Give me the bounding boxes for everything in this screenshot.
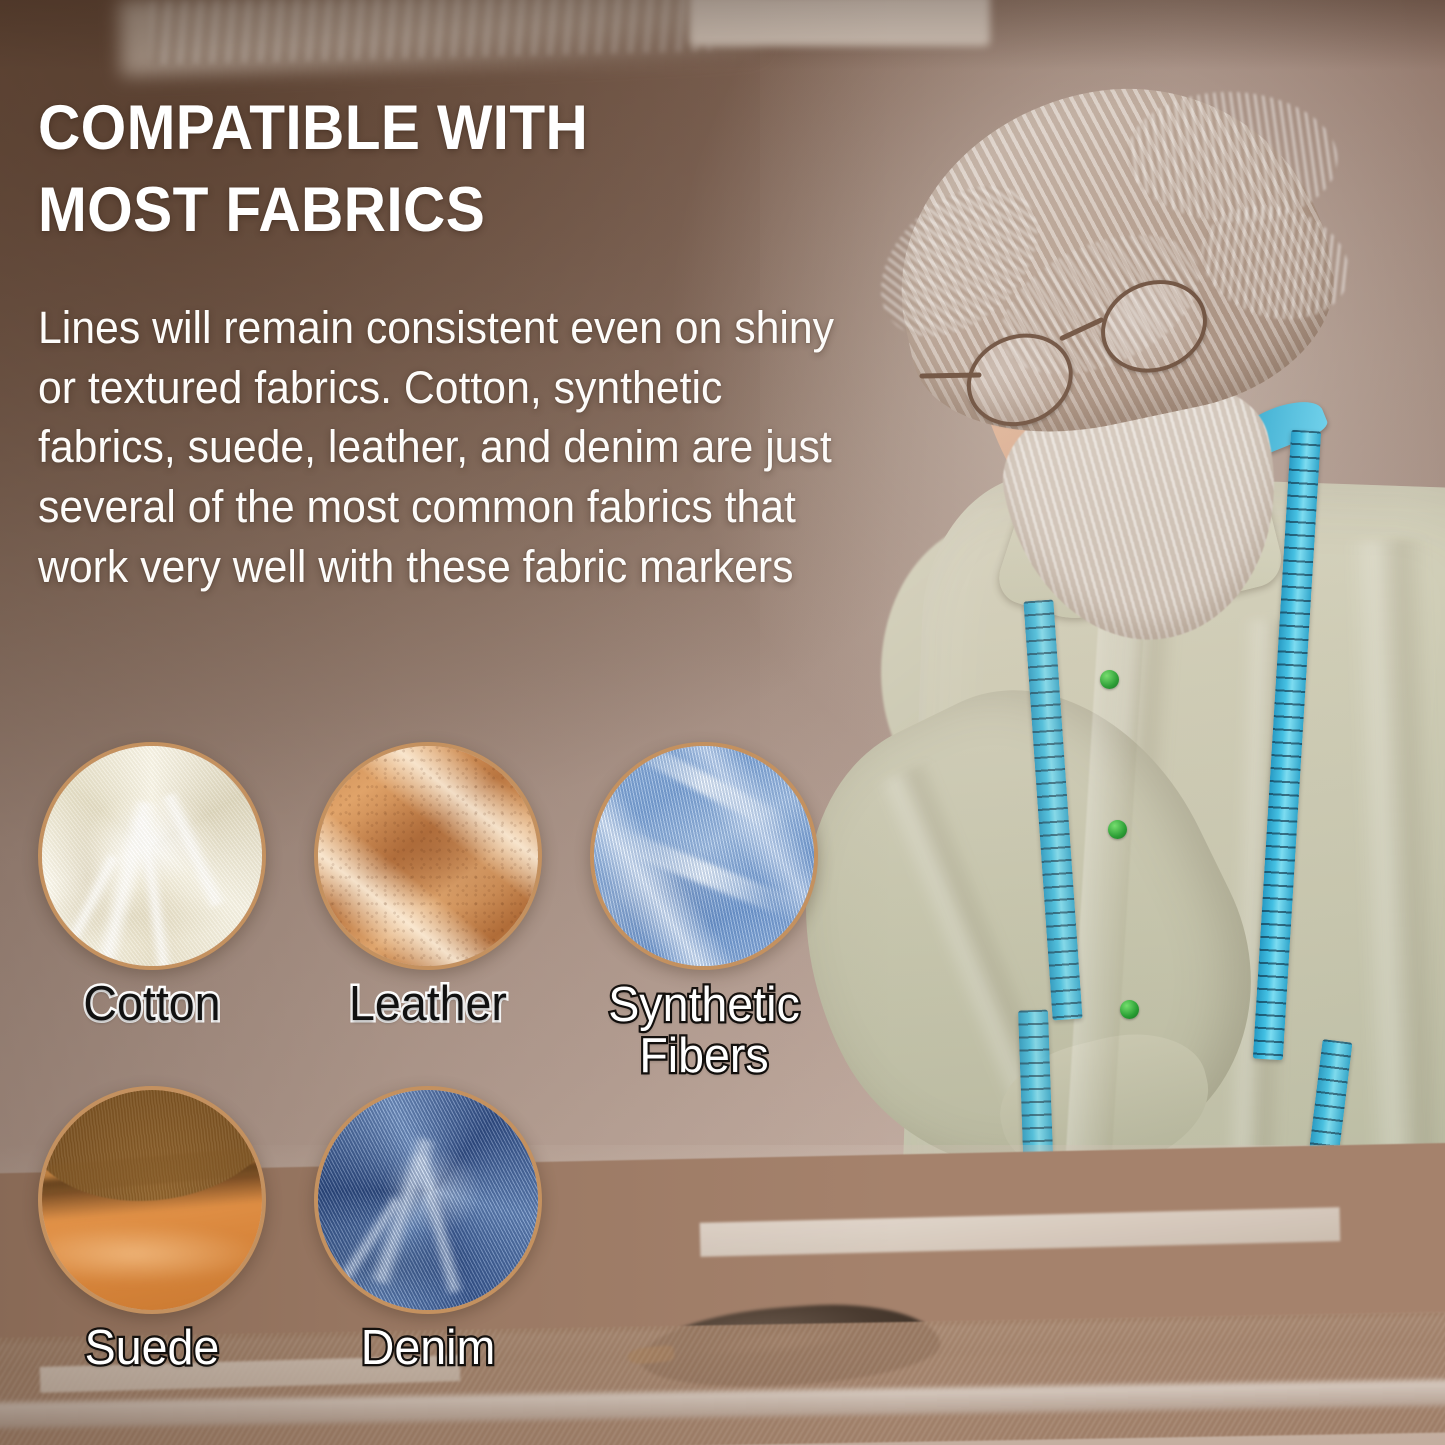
fabric-fold [92, 799, 158, 970]
glasses-bridge [1059, 317, 1105, 342]
copy-block: COMPATIBLE WITH MOST FABRICS Lines will … [38, 88, 878, 597]
fabric-fold [325, 1195, 405, 1301]
denim-swatch-disc [314, 1086, 542, 1314]
suede-swatch-disc [38, 1086, 266, 1314]
cotton-swatch-disc [38, 742, 266, 970]
body-paragraph: Lines will remain consistent even on shi… [38, 298, 836, 597]
denim-texture [314, 1086, 542, 1314]
leather-swatch-disc [314, 742, 542, 970]
fabric-fold [48, 853, 121, 970]
swatch-leather[interactable]: Leather [314, 742, 542, 1082]
swatch-denim[interactable]: Denim [314, 1086, 542, 1374]
swatch-cotton[interactable]: Cotton [38, 742, 266, 1082]
glasses-temple [919, 372, 981, 378]
suede-texture [38, 1086, 266, 1314]
product-feature-image: COMPATIBLE WITH MOST FABRICS Lines will … [0, 0, 1445, 1445]
shirt-button [1100, 670, 1119, 689]
cotton-texture [38, 742, 266, 970]
swatch-synthetic[interactable]: Synthetic Fibers [590, 742, 818, 1082]
fabric-fold [411, 1154, 464, 1295]
swatch-label-leather: Leather [320, 980, 537, 1030]
synthetic-swatch-disc [590, 742, 818, 970]
shirt-button [1120, 1000, 1139, 1019]
synthetic-texture [590, 742, 818, 970]
swatch-row-1: Cotton Leather Synthetic Fibers [38, 742, 868, 1082]
head [866, 50, 1384, 599]
swatch-row-2: Suede Denim [38, 1086, 868, 1374]
fabric-swatch-grid: Cotton Leather Synthetic Fibers [38, 742, 868, 1374]
swatch-label-cotton: Cotton [44, 980, 261, 1030]
fabric-fold [609, 826, 799, 920]
swatch-suede[interactable]: Suede [38, 1086, 266, 1374]
swatch-label-synthetic: Synthetic Fibers [596, 980, 813, 1082]
fabric-fold [367, 1136, 438, 1287]
fabric-fold [159, 791, 228, 910]
suede-sheen [46, 1224, 266, 1284]
swatch-label-suede: Suede [44, 1324, 261, 1374]
headline: COMPATIBLE WITH MOST FABRICS [38, 88, 819, 252]
swatch-label-denim: Denim [320, 1324, 537, 1374]
leather-texture [314, 742, 542, 970]
fabric-fold [133, 815, 175, 970]
shirt-button [1108, 820, 1127, 839]
fabric-fold [622, 742, 789, 835]
